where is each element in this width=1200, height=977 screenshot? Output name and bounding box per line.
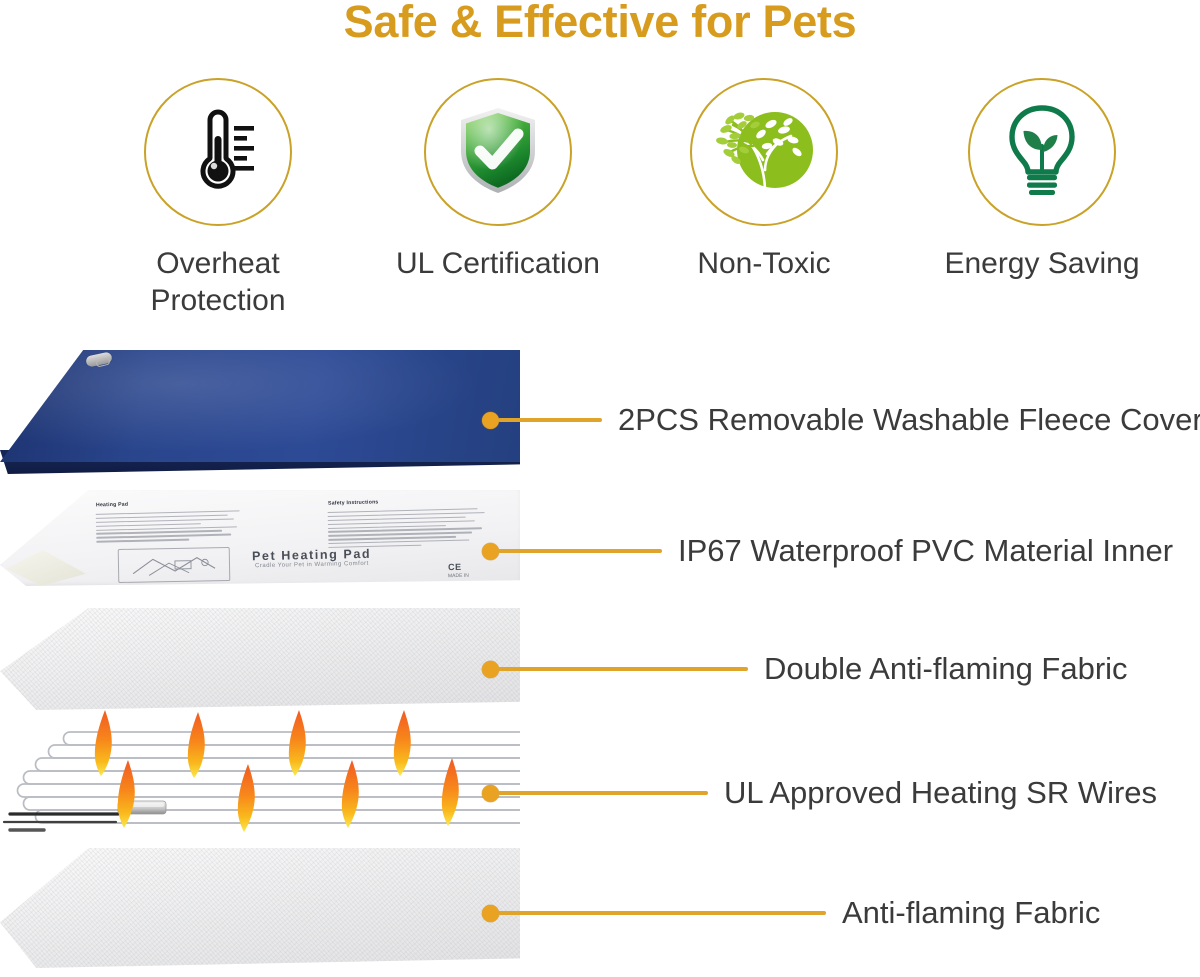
callout-leader-line bbox=[498, 667, 748, 672]
callout-marker-dot bbox=[482, 905, 499, 922]
shield-check-icon bbox=[449, 101, 547, 204]
feature-overheat-protection: Overheat Protection bbox=[78, 78, 358, 319]
pvc-heading-left: Heating Pad bbox=[96, 502, 128, 509]
callout-anti-flaming-fabric: Anti-flaming Fabric bbox=[482, 893, 1100, 933]
callout-marker-dot bbox=[482, 412, 499, 429]
pvc-heading-right: Safety Instructions bbox=[328, 499, 379, 506]
callout-marker-dot bbox=[482, 661, 499, 678]
feature-label: Overheat Protection bbox=[78, 246, 358, 319]
made-in-label: MADE IN bbox=[448, 573, 469, 579]
badge-ring-energy bbox=[968, 78, 1116, 226]
feature-badge-row: Overheat Protection bbox=[0, 78, 1200, 323]
callout-label: Anti-flaming Fabric bbox=[842, 895, 1100, 931]
layer-heating-wires bbox=[0, 702, 520, 852]
fabric-sheet bbox=[0, 608, 520, 710]
callout-leader-line bbox=[498, 791, 708, 796]
heating-wire-diagram bbox=[0, 702, 520, 852]
callout-marker-dot bbox=[482, 785, 499, 802]
callout-marker-dot bbox=[482, 543, 499, 560]
ce-mark: CE bbox=[448, 562, 462, 572]
exploded-product-layers: Heating Pad Safety Instructions bbox=[0, 340, 520, 977]
pvc-usage-diagram bbox=[118, 547, 231, 583]
badge-ring-overheat bbox=[144, 78, 292, 226]
callout-label: UL Approved Heating SR Wires bbox=[724, 775, 1157, 811]
layer-pvc-inner: Heating Pad Safety Instructions bbox=[0, 490, 520, 600]
fabric-sheet bbox=[0, 848, 520, 968]
feature-ul-certification: UL Certification bbox=[358, 78, 638, 283]
layer-fleece-cover bbox=[0, 350, 520, 485]
callout-heating-wires: UL Approved Heating SR Wires bbox=[482, 773, 1157, 813]
feature-non-toxic: Non-Toxic bbox=[624, 78, 904, 283]
product-infographic: Safe & Effective for Pets bbox=[0, 0, 1200, 977]
layer-double-anti-flaming-fabric bbox=[0, 608, 520, 710]
badge-ring-non-toxic bbox=[690, 78, 838, 226]
feature-label: Energy Saving bbox=[902, 246, 1182, 283]
lightbulb-leaf-icon bbox=[993, 100, 1091, 205]
callout-leader-line bbox=[498, 911, 826, 916]
callout-label: 2PCS Removable Washable Fleece Covers bbox=[618, 402, 1200, 438]
pvc-brand-tagline: Cradle Your Pet in Warming Comfort bbox=[255, 561, 369, 569]
badge-ring-ul bbox=[424, 78, 572, 226]
feature-energy-saving: Energy Saving bbox=[902, 78, 1182, 283]
callout-leader-line bbox=[498, 549, 662, 554]
callout-fleece-cover: 2PCS Removable Washable Fleece Covers bbox=[482, 400, 1200, 440]
callout-label: IP67 Waterproof PVC Material Inner bbox=[678, 533, 1173, 569]
pvc-paragraph-left bbox=[96, 510, 247, 545]
callout-leader-line bbox=[498, 418, 602, 423]
fleece-top-surface bbox=[0, 350, 520, 462]
pvc-printed-text: Heating Pad Safety Instructions bbox=[0, 490, 520, 586]
page-title: Safe & Effective for Pets bbox=[0, 0, 1200, 48]
tree-icon bbox=[709, 98, 819, 207]
callout-pvc-inner: IP67 Waterproof PVC Material Inner bbox=[482, 531, 1173, 571]
layer-anti-flaming-fabric bbox=[0, 848, 520, 968]
thermometer-icon bbox=[170, 102, 266, 203]
feature-label: UL Certification bbox=[358, 246, 638, 283]
pvc-paragraph-right bbox=[328, 508, 489, 551]
callout-double-anti-flaming-fabric: Double Anti-flaming Fabric bbox=[482, 649, 1128, 689]
callout-label: Double Anti-flaming Fabric bbox=[764, 651, 1128, 687]
feature-label: Non-Toxic bbox=[624, 246, 904, 283]
